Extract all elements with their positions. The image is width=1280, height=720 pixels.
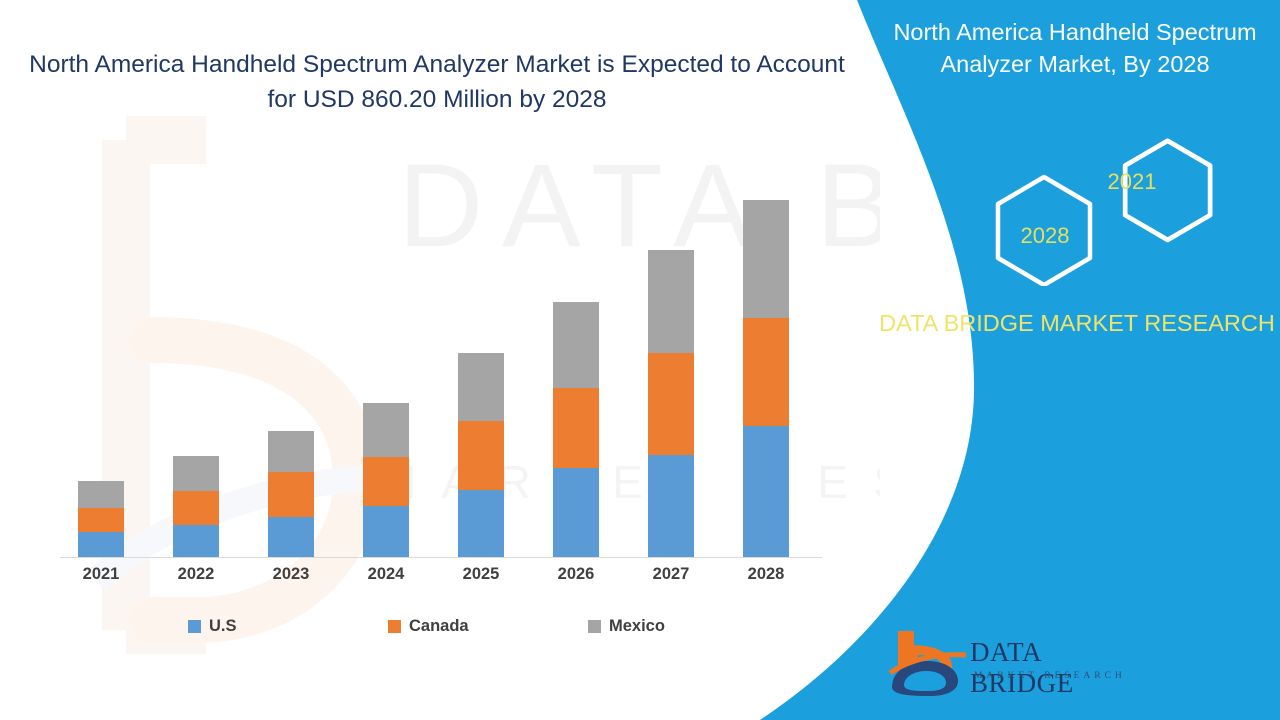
bar-segment-us[interactable] xyxy=(78,532,124,557)
chart-legend: U.SCanadaMexico xyxy=(60,617,822,641)
legend-label: Mexico xyxy=(609,617,665,636)
bar-segment-mexico[interactable] xyxy=(363,403,409,457)
bar-group[interactable] xyxy=(268,431,314,557)
bar-segment-us[interactable] xyxy=(743,426,789,557)
bar-segment-canada[interactable] xyxy=(648,353,694,455)
bar-segment-us[interactable] xyxy=(553,468,599,557)
bar-segment-canada[interactable] xyxy=(458,421,504,490)
panel-content: North America Handheld Spectrum Analyzer… xyxy=(880,0,1280,720)
legend-swatch-icon xyxy=(388,620,401,633)
x-axis-label: 2025 xyxy=(441,565,521,584)
bar-segment-mexico[interactable] xyxy=(648,250,694,353)
x-axis-label: 2024 xyxy=(346,565,426,584)
hexagon-2028-label: 2028 xyxy=(990,223,1100,249)
chart-panel: DATA BRIDGE MARKET RESEARCH North Americ… xyxy=(0,0,880,720)
bar-segment-canada[interactable] xyxy=(268,472,314,517)
bar-segment-canada[interactable] xyxy=(173,491,219,525)
legend-label: U.S xyxy=(209,617,237,636)
chart-title: North America Handheld Spectrum Analyzer… xyxy=(22,48,852,118)
bar-segment-canada[interactable] xyxy=(743,318,789,426)
legend-item-mexico[interactable]: Mexico xyxy=(588,617,665,636)
legend-label: Canada xyxy=(409,617,469,636)
x-axis-label: 2022 xyxy=(156,565,236,584)
bar-segment-mexico[interactable] xyxy=(458,353,504,421)
brand-name: DATA BRIDGE MARKET RESEARCH xyxy=(877,306,1277,340)
x-axis-label: 2026 xyxy=(536,565,616,584)
hexagon-2021-label: 2021 xyxy=(1077,169,1187,195)
bar-segment-us[interactable] xyxy=(458,490,504,557)
infographic-page: DATA BRIDGE MARKET RESEARCH North Americ… xyxy=(0,0,1280,720)
bar-segment-mexico[interactable] xyxy=(268,431,314,472)
legend-swatch-icon xyxy=(188,620,201,633)
logo-mark-icon xyxy=(888,625,968,697)
bar-chart-plot xyxy=(60,150,822,558)
logo-subline: MARKET RESEARCH xyxy=(974,671,1126,681)
x-axis-label: 2023 xyxy=(251,565,331,584)
bar-segment-us[interactable] xyxy=(173,525,219,557)
bar-group[interactable] xyxy=(648,250,694,557)
bar-segment-mexico[interactable] xyxy=(553,302,599,388)
bar-group[interactable] xyxy=(363,403,409,557)
legend-item-canada[interactable]: Canada xyxy=(388,617,469,636)
bar-group[interactable] xyxy=(553,302,599,557)
bar-group[interactable] xyxy=(458,353,504,557)
legend-swatch-icon xyxy=(588,620,601,633)
panel-title: North America Handheld Spectrum Analyzer… xyxy=(875,16,1275,81)
bar-segment-canada[interactable] xyxy=(78,508,124,532)
bar-segment-us[interactable] xyxy=(648,455,694,557)
x-axis-label: 2028 xyxy=(726,565,806,584)
legend-item-us[interactable]: U.S xyxy=(188,617,237,636)
company-logo: DATA BRIDGE MARKET RESEARCH xyxy=(888,625,1148,701)
x-axis-label: 2021 xyxy=(61,565,141,584)
logo-wordmark: DATA BRIDGE xyxy=(970,637,1148,699)
bar-segment-canada[interactable] xyxy=(553,388,599,468)
hexagon-group: 2021 2028 xyxy=(880,116,1280,286)
bar-segment-canada[interactable] xyxy=(363,457,409,506)
x-axis-label: 2027 xyxy=(631,565,711,584)
x-axis-line xyxy=(60,557,822,558)
bar-group[interactable] xyxy=(78,481,124,557)
hexagon-icons xyxy=(880,116,1280,286)
bar-group[interactable] xyxy=(173,456,219,557)
x-axis-labels: 20212022202320242025202620272028 xyxy=(60,565,822,591)
bar-segment-mexico[interactable] xyxy=(78,481,124,508)
bar-segment-mexico[interactable] xyxy=(173,456,219,491)
bar-group[interactable] xyxy=(743,200,789,557)
bar-segment-us[interactable] xyxy=(363,506,409,557)
bar-segment-us[interactable] xyxy=(268,517,314,557)
bar-segment-mexico[interactable] xyxy=(743,200,789,318)
